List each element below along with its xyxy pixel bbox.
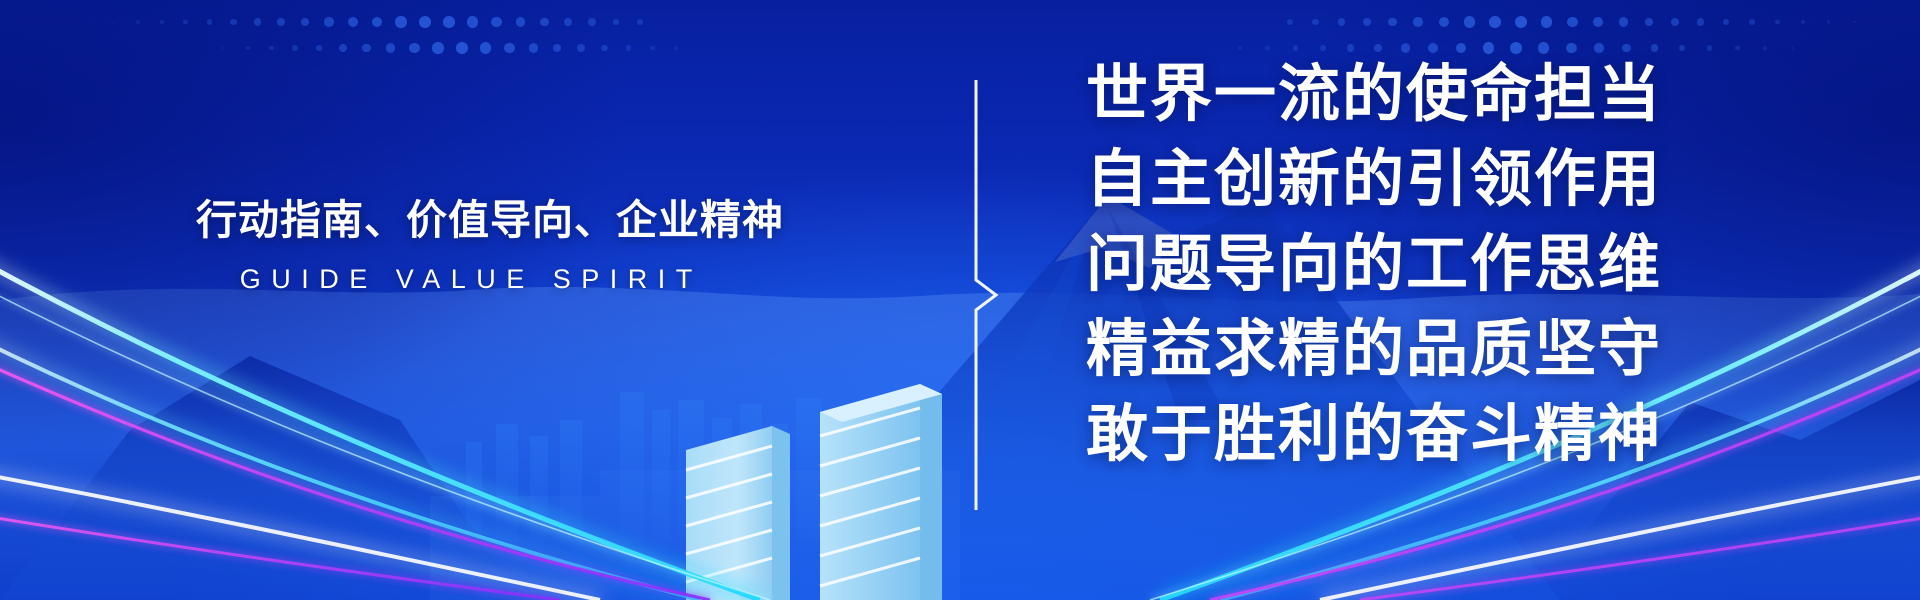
halftone-dot bbox=[207, 19, 213, 25]
halftone-dot bbox=[1763, 46, 1767, 50]
halftone-dot bbox=[372, 17, 383, 28]
halftone-dot bbox=[339, 44, 347, 52]
halftone-dot bbox=[1749, 19, 1755, 25]
halftone-dot bbox=[1827, 20, 1830, 23]
halftone-dot bbox=[637, 19, 643, 25]
halftone-dot bbox=[1489, 16, 1501, 28]
halftone-dot bbox=[1388, 18, 1397, 27]
halftone-dot bbox=[301, 18, 310, 27]
halftone-dot bbox=[1651, 44, 1659, 52]
halftone-dot bbox=[348, 17, 358, 27]
halftone-dot bbox=[601, 45, 608, 52]
vertical-divider bbox=[962, 80, 1028, 510]
halftone-dot bbox=[1697, 18, 1704, 25]
halftone-dot bbox=[89, 21, 91, 23]
halftone-dot bbox=[467, 16, 478, 27]
halftone-dot bbox=[516, 17, 526, 27]
halftone-dot bbox=[1541, 16, 1552, 27]
halftone-dot bbox=[136, 20, 139, 23]
halftone-dot bbox=[316, 45, 323, 52]
right-line-5: 敢于胜利的奋斗精神 bbox=[1086, 392, 1786, 477]
halftone-dot bbox=[386, 43, 396, 53]
halftone-dot bbox=[254, 18, 261, 25]
halftone-dot bbox=[1801, 20, 1805, 24]
halftone-dot bbox=[395, 16, 406, 27]
halftone-dot bbox=[540, 18, 549, 27]
halftone-dot bbox=[160, 20, 164, 24]
halftone-dot bbox=[626, 45, 632, 51]
halftone-dot bbox=[1515, 16, 1527, 28]
halftone-dot bbox=[456, 42, 468, 54]
halftone-dot bbox=[1622, 44, 1630, 52]
halftone-dot bbox=[491, 17, 501, 27]
halftone-dot bbox=[113, 21, 116, 24]
halftone-dot bbox=[1374, 44, 1382, 52]
halftone-dot bbox=[1265, 46, 1269, 50]
halftone-dot bbox=[246, 46, 250, 50]
left-title: 行动指南、价值导向、企业精神 bbox=[196, 198, 736, 244]
halftone-dot bbox=[409, 43, 420, 54]
left-subtitle: GUIDE VALUE SPIRIT bbox=[196, 264, 736, 295]
halftone-dot bbox=[650, 46, 655, 51]
halftone-dot bbox=[577, 44, 585, 52]
halftone-dot bbox=[1791, 47, 1794, 50]
halftone-dot bbox=[419, 16, 431, 28]
halftone-dot bbox=[613, 19, 620, 26]
right-line-3: 问题导向的工作思维 bbox=[1086, 222, 1786, 307]
halftone-dot bbox=[1723, 19, 1729, 25]
halftone-dot bbox=[1853, 21, 1856, 24]
halftone-dot bbox=[1413, 17, 1423, 27]
halftone-dot bbox=[222, 47, 225, 50]
halftone-dot bbox=[1312, 19, 1319, 26]
halftone-dot bbox=[292, 45, 298, 51]
halftone-dot bbox=[1671, 18, 1679, 26]
halftone-dot bbox=[230, 19, 236, 25]
halftone-dot bbox=[1879, 21, 1881, 23]
halftone-dot bbox=[432, 42, 444, 54]
halftone-dot bbox=[1347, 44, 1354, 51]
right-line-4: 精益求精的品质坚守 bbox=[1086, 307, 1786, 392]
halftone-dot bbox=[1567, 17, 1578, 28]
halftone-dot bbox=[553, 44, 562, 53]
halftone-dot bbox=[362, 44, 371, 53]
halftone-dot bbox=[529, 43, 538, 52]
halftone-dot bbox=[269, 46, 274, 51]
halftone-dot bbox=[674, 46, 678, 50]
halftone-dot bbox=[1645, 18, 1654, 27]
halftone-dot bbox=[1464, 16, 1475, 27]
halftone-dot bbox=[183, 20, 188, 25]
halftone-dot bbox=[1293, 45, 1298, 50]
halftone-dot bbox=[504, 43, 514, 53]
halftone-dot bbox=[1593, 17, 1603, 27]
halftone-dot bbox=[1363, 18, 1371, 26]
right-line-1: 世界一流的使命担当 bbox=[1086, 52, 1786, 137]
halftone-dot bbox=[324, 17, 333, 26]
halftone-dot bbox=[588, 18, 595, 25]
halftone-dot bbox=[1338, 18, 1345, 25]
halftone-dot bbox=[1819, 47, 1821, 49]
halftone-dot bbox=[1320, 45, 1326, 51]
right-line-2: 自主创新的引领作用 bbox=[1086, 137, 1786, 222]
halftone-dot bbox=[277, 18, 285, 26]
halftone-dot bbox=[1619, 17, 1628, 26]
halftone-dot bbox=[1735, 46, 1740, 51]
halftone-dot bbox=[480, 42, 491, 53]
left-slogan-block: 行动指南、价值导向、企业精神 GUIDE VALUE SPIRIT bbox=[196, 198, 736, 295]
halftone-dot bbox=[1707, 45, 1713, 51]
chevron-right-icon bbox=[976, 80, 996, 510]
halftone-dot bbox=[1287, 19, 1293, 25]
halftone-dot bbox=[699, 47, 702, 50]
halftone-dot bbox=[564, 18, 572, 26]
hero-banner: 行动指南、价值导向、企业精神 GUIDE VALUE SPIRIT 世界一流的使… bbox=[0, 0, 1920, 600]
halftone-dot bbox=[1238, 46, 1242, 50]
right-slogan-list: 世界一流的使命担当 自主创新的引领作用 问题导向的工作思维 精益求精的品质坚守 … bbox=[1086, 52, 1786, 477]
halftone-dot bbox=[199, 47, 201, 49]
halftone-dot bbox=[1439, 17, 1449, 27]
halftone-dot bbox=[443, 16, 455, 28]
halftone-dot bbox=[1775, 20, 1780, 25]
halftone-dot bbox=[1679, 45, 1686, 52]
